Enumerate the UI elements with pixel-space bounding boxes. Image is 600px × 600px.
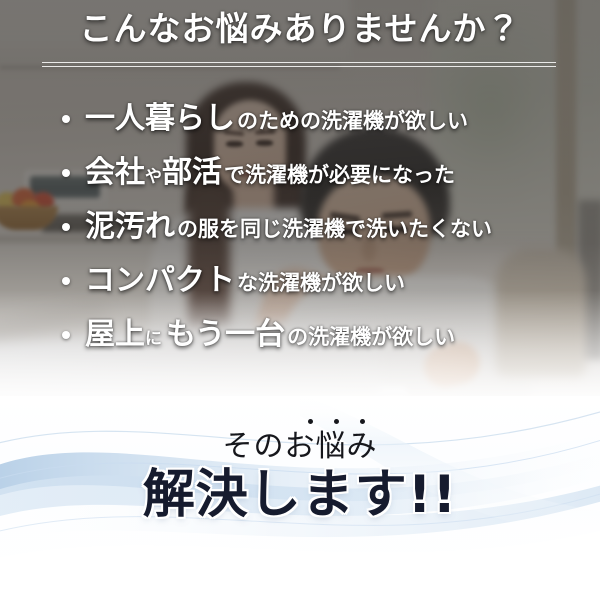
list-item-rest: の洗濯機が欲しい (287, 327, 455, 348)
list-item: 会社や部活で洗濯機が必要になった (62, 146, 562, 200)
highlight-part-a: 会社 (85, 155, 145, 190)
header: こんなお悩みありませんか？ (0, 0, 600, 74)
list-item-rest: で洗濯機が必要になった (224, 165, 455, 186)
title-divider (42, 62, 556, 67)
list-item: 一人暮らしのための洗濯機が欲しい (62, 92, 562, 146)
prefix-particle: に (145, 331, 162, 348)
highlighted-phrase: もう一台 (164, 320, 287, 350)
highlighted-phrase: コンパクト (83, 266, 237, 296)
bullet-dot-icon (62, 169, 70, 177)
highlight-part-b: 部活 (162, 155, 222, 190)
ad-banner: こんなお悩みありませんか？ 一人暮らしのための洗濯機が欲しい 会社や部活で洗濯機… (0, 0, 600, 600)
highlighted-phrase: 一人暮らし (83, 104, 237, 134)
list-item-rest: のための洗濯機が欲しい (237, 111, 468, 132)
list-item-rest: の服を同じ洗濯機で洗いたくない (177, 219, 492, 240)
pain-point-list: 一人暮らしのための洗濯機が欲しい 会社や部活で洗濯機が必要になった 泥汚れの服を… (62, 92, 562, 362)
list-item: 屋上にもう一台の洗濯機が欲しい (62, 308, 562, 362)
page-title: こんなお悩みありませんか？ (0, 12, 600, 45)
highlighted-phrase: 泥汚れ (83, 212, 177, 242)
bullet-dot-icon (62, 223, 70, 231)
list-item-rest: な洗濯機が欲しい (237, 273, 405, 294)
bullet-dot-icon (62, 115, 70, 123)
list-item: コンパクトな洗濯機が欲しい (62, 254, 562, 308)
highlight-particle: や (145, 169, 162, 186)
list-item-text: 会社や部活で洗濯機が必要になった (83, 158, 455, 188)
list-item-text: 屋上にもう一台の洗濯機が欲しい (83, 320, 455, 350)
solution-lead-text: そのお悩み (223, 429, 378, 464)
solution-lead: そのお悩み (223, 430, 378, 463)
list-item-text: 一人暮らしのための洗濯機が欲しい (83, 104, 468, 134)
highlighted-phrase: 会社や部活 (83, 158, 224, 188)
solution-block: そのお悩み 解決します!! (0, 430, 600, 521)
list-item-text: 泥汚れの服を同じ洗濯機で洗いたくない (83, 212, 492, 242)
bullet-dot-icon (62, 277, 70, 285)
list-item-text: コンパクトな洗濯機が欲しい (83, 266, 405, 296)
prefix-big: 屋上 (85, 317, 145, 352)
bullet-dot-icon (62, 331, 70, 339)
solution-headline: 解決します!! (0, 469, 600, 521)
list-item-prefix: 屋上に (83, 320, 164, 350)
list-item: 泥汚れの服を同じ洗濯機で洗いたくない (62, 200, 562, 254)
